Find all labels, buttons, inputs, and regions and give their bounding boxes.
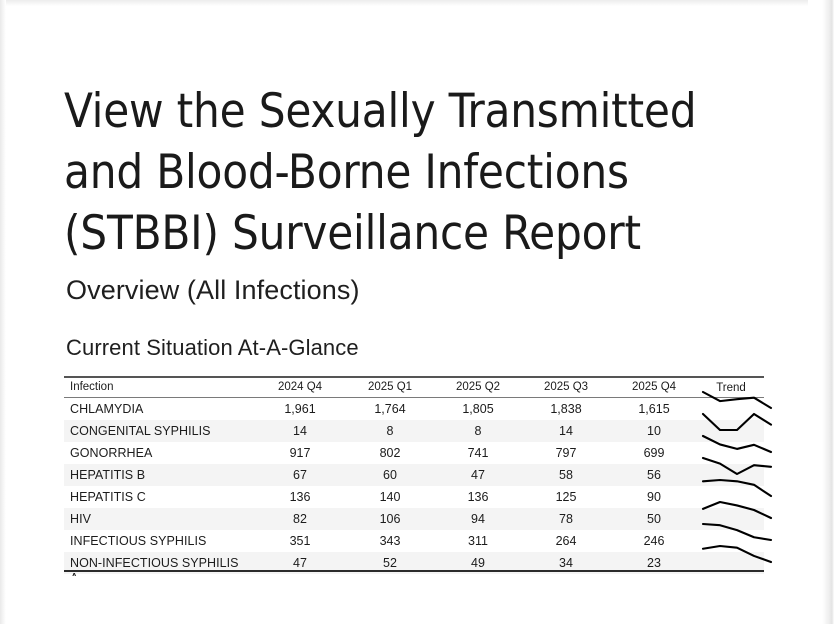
cell-value-q4: 78 bbox=[522, 508, 610, 530]
table-row: CONGENITAL SYPHILIS14881410 bbox=[64, 420, 764, 442]
cell-infection-name: HEPATITIS C bbox=[64, 486, 254, 508]
column-header-trend: Trend bbox=[698, 377, 764, 398]
page-title: View the Sexually Transmitted and Blood-… bbox=[64, 81, 764, 264]
cell-value-q3: 311 bbox=[434, 530, 522, 552]
cell-trend-sparkline bbox=[698, 420, 764, 442]
cell-value-q2: 140 bbox=[346, 486, 434, 508]
cell-value-q4: 58 bbox=[522, 464, 610, 486]
cell-value-q5: 90 bbox=[610, 486, 698, 508]
table-row: HEPATITIS C13614013612590 bbox=[64, 486, 764, 508]
table-row: CHLAMYDIA1,9611,7641,8051,8381,615 bbox=[64, 398, 764, 421]
table-row: INFECTIOUS SYPHILIS351343311264246 bbox=[64, 530, 764, 552]
report-page: View the Sexually Transmitted and Blood-… bbox=[0, 0, 834, 624]
table-header: Infection 2024 Q4 2025 Q1 2025 Q2 2025 Q… bbox=[64, 377, 764, 398]
cell-trend-sparkline bbox=[698, 464, 764, 486]
cell-value-q3: 1,805 bbox=[434, 398, 522, 421]
cell-infection-name: GONORRHEA bbox=[64, 442, 254, 464]
cell-infection-name: HIV bbox=[64, 508, 254, 530]
cell-infection-name: CONGENITAL SYPHILIS bbox=[64, 420, 254, 442]
table-body: CHLAMYDIA1,9611,7641,8051,8381,615CONGEN… bbox=[64, 398, 764, 575]
overview-heading: Overview (All Infections) bbox=[66, 275, 360, 306]
cell-value-q2: 106 bbox=[346, 508, 434, 530]
cell-trend-sparkline bbox=[698, 442, 764, 464]
cell-infection-name: HEPATITIS B bbox=[64, 464, 254, 486]
column-header-2025-q2: 2025 Q2 bbox=[434, 377, 522, 398]
cell-trend-sparkline bbox=[698, 486, 764, 508]
cell-value-q5: 699 bbox=[610, 442, 698, 464]
cell-trend-sparkline bbox=[698, 530, 764, 552]
clipped-next-row: A bbox=[70, 572, 760, 576]
cell-value-q2: 8 bbox=[346, 420, 434, 442]
cell-value-q3: 741 bbox=[434, 442, 522, 464]
cell-value-q3: 8 bbox=[434, 420, 522, 442]
cell-trend-sparkline bbox=[698, 508, 764, 530]
column-header-2025-q4: 2025 Q4 bbox=[610, 377, 698, 398]
cell-value-q5: 56 bbox=[610, 464, 698, 486]
cell-value-q5: 246 bbox=[610, 530, 698, 552]
table-row: GONORRHEA917802741797699 bbox=[64, 442, 764, 464]
column-header-2025-q1: 2025 Q1 bbox=[346, 377, 434, 398]
cell-value-q4: 14 bbox=[522, 420, 610, 442]
at-a-glance-table: Infection 2024 Q4 2025 Q1 2025 Q2 2025 Q… bbox=[64, 376, 764, 574]
cell-value-q5: 10 bbox=[610, 420, 698, 442]
table-row: HIV82106947850 bbox=[64, 508, 764, 530]
cell-value-q1: 14 bbox=[254, 420, 346, 442]
cell-value-q2: 1,764 bbox=[346, 398, 434, 421]
cell-value-q1: 917 bbox=[254, 442, 346, 464]
at-a-glance-table-wrap: Infection 2024 Q4 2025 Q1 2025 Q2 2025 Q… bbox=[64, 376, 764, 574]
current-situation-heading: Current Situation At-A-Glance bbox=[66, 335, 359, 361]
cell-value-q2: 60 bbox=[346, 464, 434, 486]
cell-value-q2: 343 bbox=[346, 530, 434, 552]
cell-trend-sparkline bbox=[698, 398, 764, 421]
cell-value-q4: 264 bbox=[522, 530, 610, 552]
cell-value-q4: 125 bbox=[522, 486, 610, 508]
cell-infection-name: CHLAMYDIA bbox=[64, 398, 254, 421]
column-header-2024-q4: 2024 Q4 bbox=[254, 377, 346, 398]
cell-value-q3: 136 bbox=[434, 486, 522, 508]
clipped-row-text: A bbox=[70, 572, 760, 576]
cell-value-q5: 50 bbox=[610, 508, 698, 530]
cell-value-q5: 1,615 bbox=[610, 398, 698, 421]
cell-value-q4: 797 bbox=[522, 442, 610, 464]
cell-value-q1: 82 bbox=[254, 508, 346, 530]
cell-value-q1: 1,961 bbox=[254, 398, 346, 421]
cell-value-q1: 351 bbox=[254, 530, 346, 552]
cell-infection-name: INFECTIOUS SYPHILIS bbox=[64, 530, 254, 552]
cell-value-q1: 67 bbox=[254, 464, 346, 486]
table-header-row: Infection 2024 Q4 2025 Q1 2025 Q2 2025 Q… bbox=[64, 377, 764, 398]
cell-value-q3: 47 bbox=[434, 464, 522, 486]
cell-value-q2: 802 bbox=[346, 442, 434, 464]
cell-value-q1: 136 bbox=[254, 486, 346, 508]
column-header-2025-q3: 2025 Q3 bbox=[522, 377, 610, 398]
table-row: HEPATITIS B6760475856 bbox=[64, 464, 764, 486]
cell-value-q4: 1,838 bbox=[522, 398, 610, 421]
column-header-infection: Infection bbox=[64, 377, 254, 398]
report-content: View the Sexually Transmitted and Blood-… bbox=[0, 0, 834, 624]
cell-value-q3: 94 bbox=[434, 508, 522, 530]
